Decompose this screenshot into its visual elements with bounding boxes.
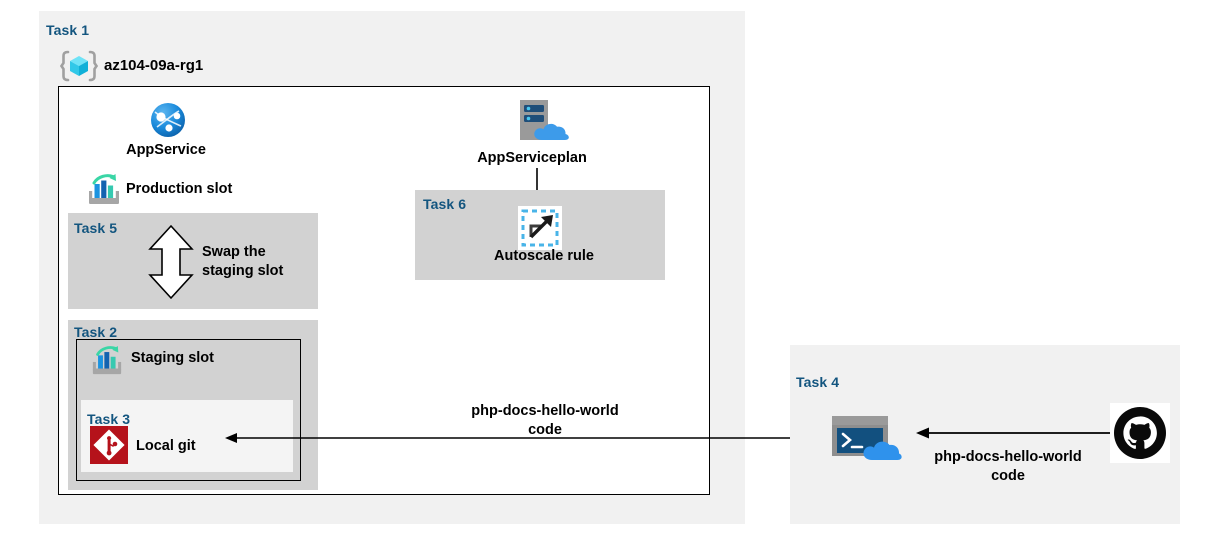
app-service-label: AppService xyxy=(126,142,206,158)
production-slot-label: Production slot xyxy=(126,181,232,197)
diagram-canvas: Task 1 az104-09a-rg1 xyxy=(0,0,1218,545)
app-service-globe-icon xyxy=(148,100,188,140)
app-service-plan-label: AppServiceplan xyxy=(477,150,587,166)
cloud-shell-icon xyxy=(828,410,904,462)
local-git-label: Local git xyxy=(136,438,196,454)
task3-label: Task 3 xyxy=(87,411,130,427)
task2-label: Task 2 xyxy=(74,324,117,340)
task5-label: Task 5 xyxy=(74,220,117,236)
deployment-slot-icon-production xyxy=(86,173,122,207)
task5-action-text: Swap the staging slot xyxy=(202,243,283,281)
app-service-plan-icon xyxy=(512,98,574,146)
git-icon xyxy=(90,426,128,464)
cloudshell-to-localgit-arrow xyxy=(225,430,825,446)
swap-double-arrow-icon xyxy=(148,224,194,300)
task6-label: Task 6 xyxy=(423,196,466,212)
task4-arrow-label-line2: code xyxy=(934,467,1081,486)
task4-arrow-label-line1: php-docs-hello-world xyxy=(934,448,1081,467)
resource-group-cube-icon xyxy=(60,48,98,84)
task5-action-line1: Swap the xyxy=(202,243,283,262)
task4-label: Task 4 xyxy=(796,374,839,390)
task1-label: Task 1 xyxy=(46,22,89,38)
deployment-slot-icon-staging xyxy=(90,345,124,377)
task5-action-line2: staging slot xyxy=(202,262,283,281)
autoscale-rule-label: Autoscale rule xyxy=(494,248,594,264)
github-icon xyxy=(1110,403,1170,463)
github-to-cloudshell-arrow xyxy=(916,425,1110,441)
task4-arrow-label: php-docs-hello-world code xyxy=(934,448,1081,486)
resource-group-name: az104-09a-rg1 xyxy=(104,57,203,74)
staging-slot-label: Staging slot xyxy=(131,350,214,366)
center-arrow-label-line1: php-docs-hello-world xyxy=(471,402,618,421)
autoscale-icon xyxy=(518,206,562,250)
